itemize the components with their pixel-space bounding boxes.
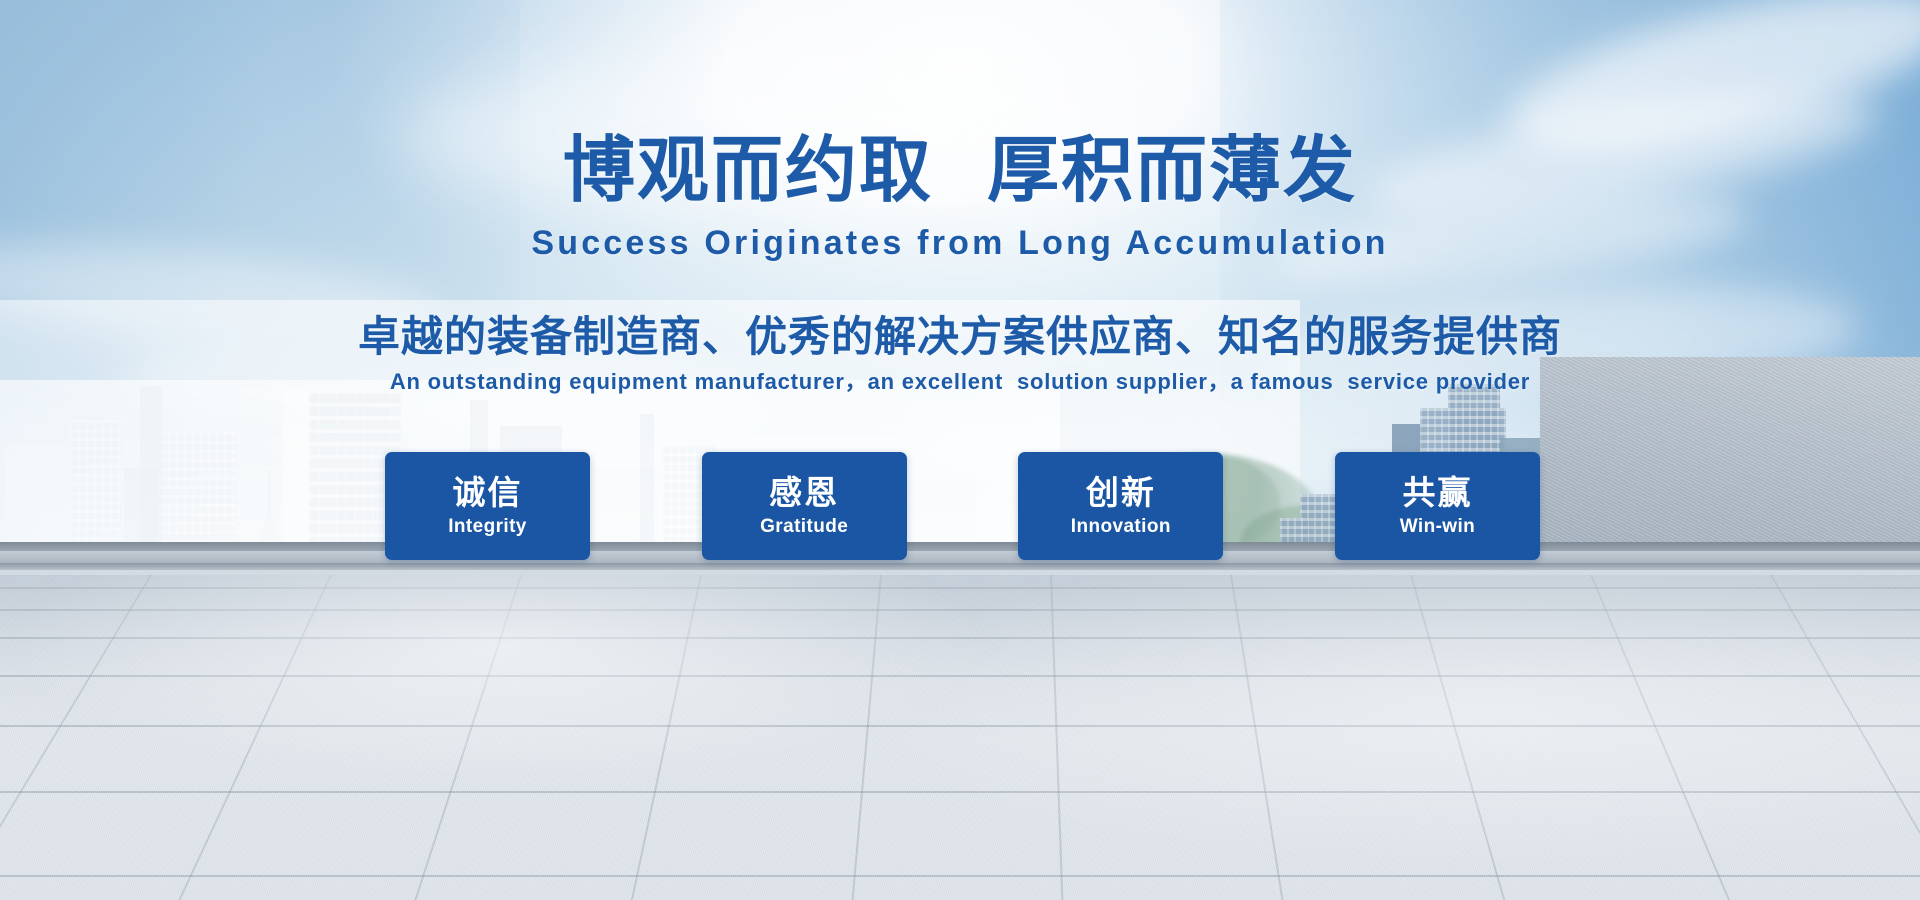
banner-content: 博观而约取 厚积而薄发 Success Originates from Long…: [0, 0, 1920, 900]
value-card-label-en: Gratitude: [760, 515, 848, 539]
value-card-label-cn: 诚信: [453, 473, 523, 513]
hero-banner: 博观而约取 厚积而薄发 Success Originates from Long…: [0, 0, 1920, 900]
value-card-label-cn: 共赢: [1402, 473, 1472, 513]
value-card-label-en: Integrity: [448, 515, 527, 539]
value-card-label-cn: 创新: [1086, 473, 1156, 513]
tagline: 卓越的装备制造商、优秀的解决方案供应商、知名的服务提供商: [0, 303, 1920, 364]
value-card-label-en: Innovation: [1071, 515, 1171, 539]
value-card-innovation[interactable]: 创新 Innovation: [1018, 452, 1223, 560]
value-card-label-en: Win-win: [1400, 515, 1475, 539]
value-card-gratitude[interactable]: 感恩 Gratitude: [702, 452, 907, 560]
value-card-label-cn: 感恩: [769, 473, 839, 513]
page-title-english: Success Originates from Long Accumulatio…: [0, 224, 1920, 263]
tagline-english: An outstanding equipment manufacturer，an…: [0, 364, 1920, 396]
page-title: 博观而约取 厚积而薄发: [0, 130, 1920, 210]
value-card-list: 诚信 Integrity 感恩 Gratitude 创新 Innovation …: [385, 452, 1540, 560]
value-card-integrity[interactable]: 诚信 Integrity: [385, 452, 590, 560]
value-card-winwin[interactable]: 共赢 Win-win: [1335, 452, 1540, 560]
